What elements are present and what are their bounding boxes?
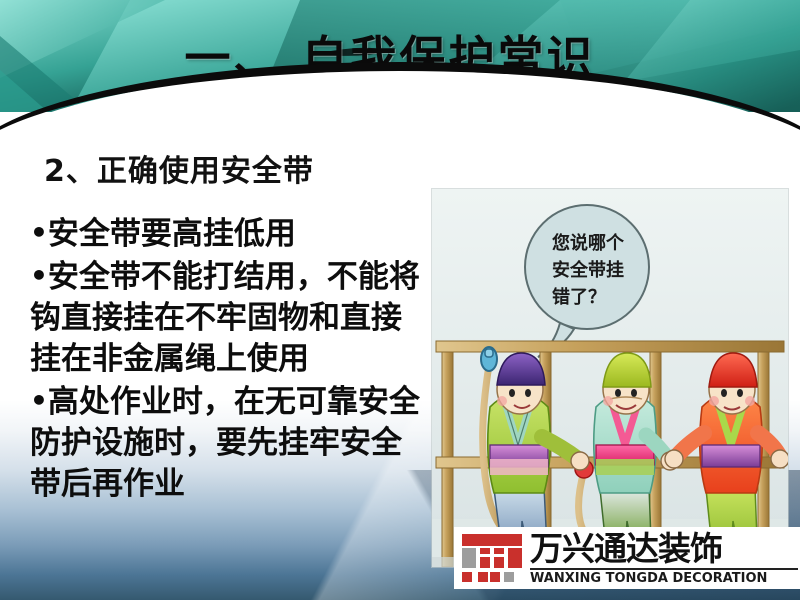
slide-header-banner: 一、 自我保护常识 [0,0,800,112]
speech-line-3: 错了？ [552,286,606,308]
bullet-marker-icon: • [30,216,48,249]
company-logo: 万兴通达装饰 WANXING TONGDA DECORATION [454,527,800,589]
logo-chinese-name: 万兴通达装饰 [530,531,798,567]
bullet-text: 高处作业时，在无可靠安全防护设施时，要先挂牢安全带后再作业 [30,384,420,502]
speech-line-1: 您说哪个 [552,232,625,254]
hand-left-worker [571,452,589,470]
bullet-marker-icon: • [30,384,48,417]
list-item: •高处作业时，在无可靠安全防护设施时，要先挂牢安全带后再作业 [30,380,430,505]
bullet-text: 安全带不能打结用，不能将钩直接挂在不牢固物和直接挂在非金属绳上使用 [30,259,420,377]
carabiner-hook-icon [481,347,497,371]
list-item: •安全带不能打结用，不能将钩直接挂在不牢固物和直接挂在非金属绳上使用 [30,255,430,380]
hand-right-worker-left [665,450,683,468]
bullet-list: •安全带要高挂低用 •安全带不能打结用，不能将钩直接挂在不牢固物和直接挂在非金属… [30,212,430,505]
list-item: •安全带要高挂低用 [30,212,430,255]
logo-text-block: 万兴通达装饰 WANXING TONGDA DECORATION [526,531,800,586]
section-subtitle: 2、正确使用安全带 [44,146,314,190]
logo-english-name: WANXING TONGDA DECORATION [530,571,798,586]
hand-right-worker-right [771,450,788,468]
safety-belt-cartoon-image: 您说哪个 安全带挂 错了？ [432,189,788,567]
bullet-marker-icon: • [30,259,48,292]
presentation-slide: 一、 自我保护常识 2、正确使用安全带 •安全带要高挂低用 •安全带不能打结用，… [0,0,800,600]
bullet-text: 安全带要高挂低用 [48,216,296,252]
wanxing-tongda-logo-mark-icon [460,532,526,584]
logo-divider [530,568,798,570]
page-title: 一、 自我保护常识 [0,22,800,88]
cartoon-artwork: 您说哪个 安全带挂 错了？ [432,189,788,567]
speech-line-2: 安全带挂 [552,259,624,281]
